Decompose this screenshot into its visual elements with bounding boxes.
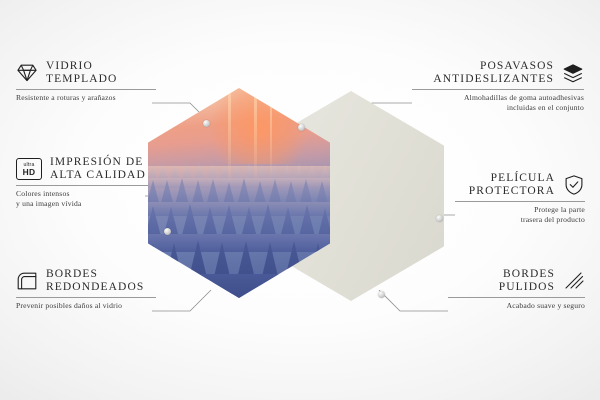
divider — [412, 89, 584, 90]
stacked-coasters-icon — [562, 62, 584, 84]
product-feature-infographic: VIDRIO TEMPLADO Resistente a roturas y a… — [0, 0, 600, 400]
feature-header: BORDES REDONDEADOS — [16, 268, 156, 294]
divider — [16, 89, 156, 90]
rubber-pad-dot — [436, 215, 443, 222]
feature-description: Resistente a roturas y arañazos — [16, 93, 156, 103]
feature-title: IMPRESIÓN DE ALTA CALIDAD — [50, 156, 146, 182]
ultra-hd-badge-icon: ultra HD — [16, 158, 42, 180]
feature-title: VIDRIO TEMPLADO — [46, 60, 117, 86]
divider — [448, 297, 585, 298]
divider — [455, 201, 585, 202]
feature-description: Acabado suave y seguro — [448, 301, 585, 311]
divider — [16, 185, 148, 186]
diamond-icon — [16, 62, 38, 84]
feature-description: Prevenir posibles daños al vidrio — [16, 301, 156, 311]
rubber-pad-dot — [378, 291, 385, 298]
feature-bordes-redondeados: BORDES REDONDEADOS Prevenir posibles dañ… — [16, 268, 156, 311]
feature-description: Protege la parte trasera del producto — [455, 205, 585, 225]
rubber-pad-dot — [211, 286, 218, 293]
feature-title: BORDES REDONDEADOS — [46, 268, 144, 294]
feature-title: POSAVASOS ANTIDESLIZANTES — [433, 60, 554, 86]
feature-title: BORDES PULIDOS — [499, 268, 555, 294]
shield-check-icon — [563, 174, 585, 196]
feature-header: VIDRIO TEMPLADO — [16, 60, 156, 86]
polished-edge-lines-icon — [563, 270, 585, 292]
feature-posavasos-antideslizantes: POSAVASOS ANTIDESLIZANTES Almohadillas d… — [412, 60, 584, 113]
feature-pelicula-protectora: PELÍCULA PROTECTORA Protege la parte tra… — [455, 172, 585, 225]
feature-header: ultra HD IMPRESIÓN DE ALTA CALIDAD — [16, 156, 148, 182]
feature-vidrio-templado: VIDRIO TEMPLADO Resistente a roturas y a… — [16, 60, 156, 103]
divider — [16, 297, 156, 298]
feature-bordes-pulidos: BORDES PULIDOS Acabado suave y seguro — [448, 268, 585, 311]
rubber-pad-dot — [298, 124, 305, 131]
rounded-corner-icon — [16, 270, 38, 292]
feature-description: Colores intensos y una imagen vívida — [16, 189, 148, 209]
rubber-pad-dot — [203, 120, 210, 127]
feature-header: BORDES PULIDOS — [448, 268, 585, 294]
product-image — [148, 88, 458, 313]
feature-title: PELÍCULA PROTECTORA — [469, 172, 555, 198]
feature-header: PELÍCULA PROTECTORA — [455, 172, 585, 198]
feature-description: Almohadillas de goma autoadhesivas inclu… — [412, 93, 584, 113]
rubber-pad-dot — [164, 228, 171, 235]
feature-header: POSAVASOS ANTIDESLIZANTES — [412, 60, 584, 86]
feature-impresion-alta-calidad: ultra HD IMPRESIÓN DE ALTA CALIDAD Color… — [16, 156, 148, 209]
